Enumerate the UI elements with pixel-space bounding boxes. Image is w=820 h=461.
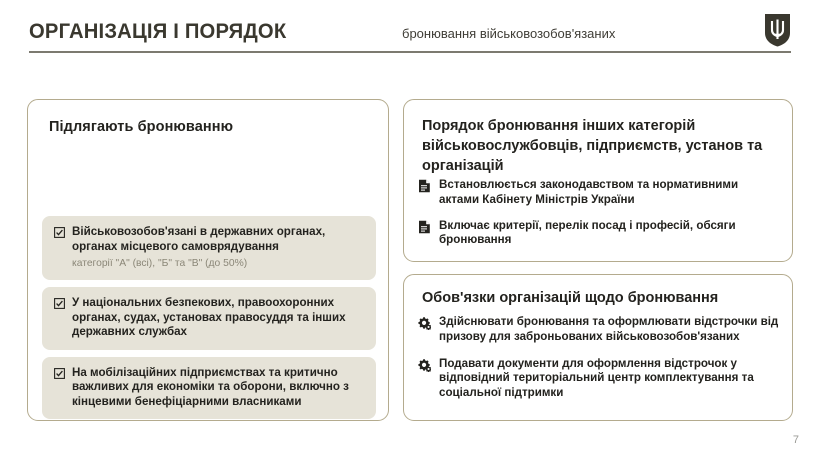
list-item[interactable]: На мобілізаційних підприємствах та крити… xyxy=(42,357,376,420)
page-title: ОРГАНІЗАЦІЯ І ПОРЯДОК xyxy=(29,19,286,44)
list-item[interactable]: У національних безпекових, правоохоронни… xyxy=(42,287,376,350)
list-item-label: Здійснювати бронювання та оформлювати ві… xyxy=(439,315,780,345)
list-item[interactable]: Подавати документи для оформлення відстр… xyxy=(418,357,780,401)
header-divider xyxy=(29,51,791,53)
page-number: 7 xyxy=(793,434,799,446)
list-item[interactable]: Здійснювати бронювання та оформлювати ві… xyxy=(418,315,780,345)
list-item-label: У національних безпекових, правоохоронни… xyxy=(72,296,364,340)
list-item-label: Військовозобов'язані в державних органах… xyxy=(72,225,364,254)
card-organisation-duties: Обов'язки організацій щодо бронювання Зд… xyxy=(403,274,793,421)
list-item-label: Включає критерії, перелік посад і профес… xyxy=(439,219,780,249)
card-title: Підлягають бронюванню xyxy=(49,119,233,135)
duties-bullet-list: Здійснювати бронювання та оформлювати ві… xyxy=(418,315,780,413)
checkbox-checked-icon xyxy=(54,368,65,379)
card-title: Порядок бронювання інших категорій війсь… xyxy=(422,116,778,176)
list-item-label: На мобілізаційних підприємствах та крити… xyxy=(72,366,364,410)
list-item[interactable]: Включає критерії, перелік посад і профес… xyxy=(418,219,780,249)
page-header: ОРГАНІЗАЦІЯ І ПОРЯДОК бронювання військо… xyxy=(0,0,820,62)
list-item[interactable]: Військовозобов'язані в державних органах… xyxy=(42,216,376,280)
card-reservation-procedure: Порядок бронювання інших категорій війсь… xyxy=(403,99,793,262)
document-icon xyxy=(418,220,431,234)
gears-icon xyxy=(418,316,431,330)
card-title: Обов'язки організацій щодо бронювання xyxy=(422,290,718,306)
page-subtitle: бронювання військовозобов'язаних xyxy=(402,26,615,41)
procedure-bullet-list: Встановлюється законодавством та нормати… xyxy=(418,178,780,259)
gears-icon xyxy=(418,358,431,372)
ukraine-trident-shield-icon xyxy=(764,13,791,47)
list-item-note: категорії "А" (всі), "Б" та "В" (до 50%) xyxy=(72,257,364,270)
document-icon xyxy=(418,179,431,193)
checkbox-checked-icon xyxy=(54,227,65,238)
list-item[interactable]: Встановлюється законодавством та нормати… xyxy=(418,178,780,208)
reservation-category-list: Військовозобов'язані в державних органах… xyxy=(42,216,376,426)
checkbox-checked-icon xyxy=(54,298,65,309)
card-subject-to-reservation: Підлягають бронюванню Військовозобов'яза… xyxy=(27,99,389,421)
list-item-label: Встановлюється законодавством та нормати… xyxy=(439,178,780,208)
list-item-label: Подавати документи для оформлення відстр… xyxy=(439,357,780,401)
